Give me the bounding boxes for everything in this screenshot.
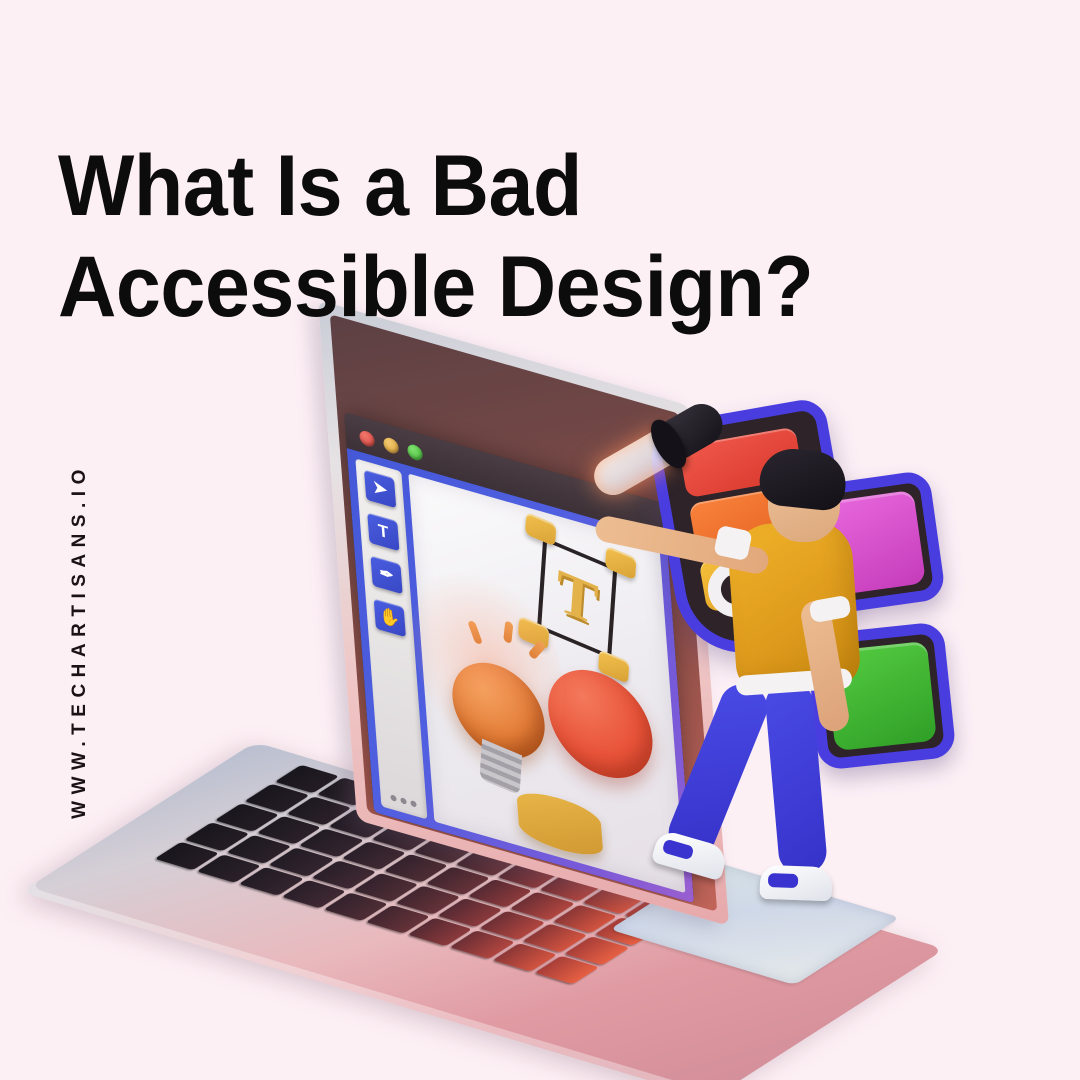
character-shoe-front [759,865,832,901]
bulb-ray [467,621,483,644]
designer-character [660,440,920,900]
page-title: What Is a Bad Accessible Design? [58,136,885,339]
toolbar-overflow-dots[interactable] [390,794,416,807]
selection-handle-tl[interactable] [525,512,557,547]
shoe-accent [768,873,798,888]
selection-handle-tr[interactable] [605,546,637,581]
character-hair [757,446,849,513]
overflow-dot [400,797,406,805]
selection-edge-right [607,561,618,665]
maximize-dot[interactable] [407,442,423,461]
shoe-accent [662,839,695,861]
bulb-ray [503,620,513,644]
poster-canvas: ➤ T ✒ ✋ [0,0,1080,1080]
canvas-text-object[interactable]: T [554,560,599,636]
overflow-dot [390,794,396,802]
minimize-dot[interactable] [383,435,399,454]
pen-tool[interactable]: ✒ [370,556,402,595]
text-tool[interactable]: T [367,513,399,552]
website-url[interactable]: WWW.TECHARTISANS.IO [69,431,91,851]
cylinder-shape [516,786,604,862]
hand-tool[interactable]: ✋ [374,599,406,638]
cursor-tool[interactable]: ➤ [364,470,396,509]
character-shoe-back [651,829,730,882]
overflow-dot [410,800,416,808]
selection-edge-left [537,531,548,635]
close-dot[interactable] [359,429,375,448]
color-swatch-circle[interactable] [544,657,656,791]
